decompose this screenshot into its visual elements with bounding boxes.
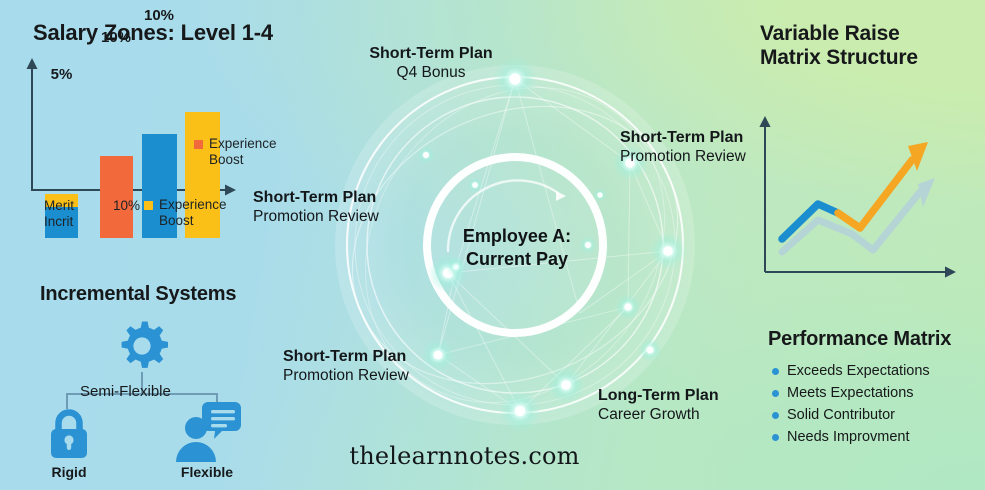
orbit-label-career-growth: Long-Term Plan Career Growth	[598, 386, 719, 424]
line-y-arrow-icon	[759, 116, 770, 127]
legend-label: Experience Boost	[159, 197, 227, 229]
semi-flexible-label: Semi-Flexible	[80, 383, 171, 400]
legend-swatch-yellow	[144, 201, 153, 210]
orbit-label-title: Short-Term Plan	[620, 128, 746, 148]
list-item: Solid Contributor	[772, 404, 977, 426]
legend-label: Experience Boost	[209, 136, 277, 168]
watermark-text: thelearnnotes.com	[349, 442, 579, 470]
list-item-label: Solid Contributor	[787, 407, 895, 423]
orbit-label-subtitle: Promotion Review	[620, 148, 746, 167]
orbit-label-promotion-review-right: Short-Term Plan Promotion Review	[620, 128, 746, 166]
orbit-label-promotion-review-bottom: Short-Term Plan Promotion Review	[283, 347, 409, 385]
bar-experience-boost-1	[100, 156, 133, 238]
list-item-label: Meets Expectations	[787, 385, 914, 401]
bar-category-label-1: Merit Incrit	[44, 198, 74, 230]
bullet-icon	[772, 434, 779, 441]
variable-raise-line-chart	[752, 112, 967, 280]
bullet-icon	[772, 390, 779, 397]
infographic-canvas: Employee A: Current Pay Short-Term Plan …	[0, 0, 985, 490]
performance-matrix-list: Exceeds Expectations Meets Expectations …	[772, 360, 977, 448]
orbit-label-title: Short-Term Plan	[366, 44, 496, 64]
bullet-icon	[772, 412, 779, 419]
variable-raise-title: Variable Raise Matrix Structure	[760, 22, 918, 71]
list-item-label: Exceeds Expectations	[787, 363, 930, 379]
secondary-series-arrowhead	[918, 178, 935, 207]
bar-legend-experience-boost-orange: Experience Boost	[194, 136, 277, 168]
gear-icon	[116, 320, 168, 372]
connector-vertical-left	[66, 393, 68, 409]
bar-value-2: 10%	[96, 29, 136, 46]
orbit-label-title: Short-Term Plan	[283, 347, 409, 367]
bar-value-3: 10%	[138, 7, 180, 24]
orbit-label-subtitle: Promotion Review	[283, 367, 409, 386]
orbit-center-label: Employee A: Current Pay	[417, 225, 617, 272]
bar-value-1: 5%	[45, 66, 78, 83]
x-axis-arrow-icon	[222, 183, 236, 197]
salary-zones-bar-chart: 5% 10% 10% Merit Incrit 10% Experience B…	[22, 58, 292, 238]
orbit-label-subtitle: Career Growth	[598, 406, 719, 425]
line-x-arrow-icon	[945, 266, 956, 277]
bar-legend-experience-boost-yellow: Experience Boost	[144, 197, 227, 229]
orbit-label-title: Long-Term Plan	[598, 386, 719, 406]
y-axis-arrow-icon	[26, 58, 40, 72]
list-item: Exceeds Expectations	[772, 360, 977, 382]
bullet-icon	[772, 368, 779, 375]
orbit-label-subtitle: Q4 Bonus	[366, 64, 496, 83]
watermark: thelearnnotes.com	[0, 442, 985, 470]
bar-category-label-2: 10%	[113, 198, 140, 214]
orbit-label-q4-bonus: Short-Term Plan Q4 Bonus	[366, 44, 496, 82]
bar-chart-y-axis	[31, 68, 33, 190]
list-item: Meets Expectations	[772, 382, 977, 404]
performance-matrix-title: Performance Matrix	[768, 328, 951, 351]
legend-swatch-orange	[194, 140, 203, 149]
incremental-systems-title: Incremental Systems	[40, 283, 236, 306]
